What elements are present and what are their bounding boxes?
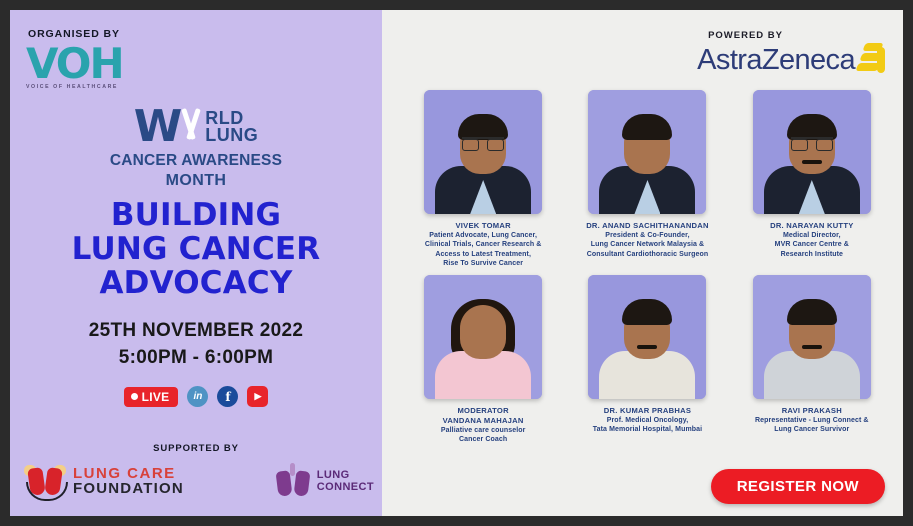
speaker-grid: VIVEK TOMAR Patient Advocate, Lung Cance… [410, 90, 885, 444]
event-date: 25TH NOVEMBER 2022 [10, 317, 382, 344]
speaker-role: Prof. Medical Oncology, Tata Memorial Ho… [578, 416, 716, 435]
speaker-name: RAVI PRAKASH [743, 406, 881, 416]
speaker-name: DR. KUMAR PRABHAS [578, 406, 716, 416]
speaker-role: Medical Director, MVR Cancer Centre & Re… [743, 231, 881, 259]
speaker-card: DR. KUMAR PRABHAS Prof. Medical Oncology… [574, 275, 720, 445]
speaker-role: President & Co-Founder, Lung Cancer Netw… [578, 231, 716, 259]
purple-lungs-icon [275, 462, 311, 500]
event-datetime: 25TH NOVEMBER 2022 5:00PM - 6:00PM [10, 317, 382, 371]
linkedin-icon[interactable]: in [187, 386, 208, 407]
speaker-name: DR. ANAND SACHITHANANDAN [578, 221, 716, 231]
lung-care-foundation-logo: LUNG CARE FOUNDATION [24, 460, 184, 502]
awareness-line3: MONTH [10, 172, 382, 190]
lungconnect-line1: LUNG [317, 469, 374, 482]
astrazeneca-wordmark: AstraZeneca [697, 44, 855, 77]
speaker-name: VIVEK TOMAR [414, 221, 552, 231]
speaker-card: MODERATOR VANDANA MAHAJAN Palliative car… [410, 275, 556, 445]
awareness-ribbon-icon [183, 106, 203, 148]
lung-connect-logo: LUNG CONNECT [275, 462, 374, 500]
speaker-name: MODERATOR VANDANA MAHAJAN [414, 406, 552, 426]
lcf-line1: LUNG CARE [73, 466, 184, 481]
sponsor-logos: LUNG CARE FOUNDATION LUNG CONNECT [24, 460, 374, 502]
astrazeneca-ribbon-icon [857, 43, 887, 77]
speaker-card: VIVEK TOMAR Patient Advocate, Lung Cance… [410, 90, 556, 269]
voh-logo: VOH VOICE OF HEALTHCARE [26, 42, 146, 90]
speaker-card: DR. ANAND SACHITHANANDAN President & Co-… [574, 90, 720, 269]
register-now-button[interactable]: REGISTER NOW [711, 469, 885, 504]
powered-by-label: POWERED BY [708, 30, 783, 41]
right-panel: POWERED BY AstraZeneca VIVEK TOMAR Patie… [382, 10, 903, 516]
awareness-line2: CANCER AWARENESS [10, 152, 382, 170]
speaker-photo [588, 275, 706, 399]
awareness-word-lung: LUNG [205, 127, 258, 144]
live-dot-icon [131, 393, 138, 400]
speaker-role: Palliative care counselor Cancer Coach [414, 426, 552, 445]
facebook-icon[interactable]: f [217, 386, 238, 407]
page-title: BUILDING LUNG CANCER ADVOCACY [10, 198, 382, 300]
voh-tagline: VOICE OF HEALTHCARE [26, 84, 146, 90]
world-lung-cancer-awareness-month-logo: W RLD LUNG CANCER AWARENESS MONTH [10, 106, 382, 190]
youtube-icon[interactable]: ▶ [247, 386, 268, 407]
live-label: LIVE [142, 390, 170, 404]
webinar-poster: ORGANISED BY VOH VOICE OF HEALTHCARE W R… [10, 10, 903, 516]
speaker-photo [424, 90, 542, 214]
lungconnect-line2: CONNECT [317, 481, 374, 494]
speaker-role: Representative - Lung Connect & Lung Can… [743, 416, 881, 435]
speaker-photo [753, 275, 871, 399]
speaker-card: RAVI PRAKASH Representative - Lung Conne… [739, 275, 885, 445]
voh-wordmark: VOH [26, 42, 146, 86]
speaker-name: DR. NARAYAN KUTTY [743, 221, 881, 231]
speaker-card: DR. NARAYAN KUTTY Medical Director, MVR … [739, 90, 885, 269]
social-row: LIVE in f ▶ [10, 386, 382, 407]
astrazeneca-logo: AstraZeneca [697, 43, 887, 77]
speaker-photo [753, 90, 871, 214]
lungs-with-arms-icon [24, 460, 66, 502]
live-badge: LIVE [124, 387, 179, 407]
speaker-photo [588, 90, 706, 214]
left-panel: ORGANISED BY VOH VOICE OF HEALTHCARE W R… [10, 10, 382, 516]
w-letter: W [134, 107, 182, 147]
event-time: 5:00PM - 6:00PM [10, 344, 382, 371]
lcf-line2: FOUNDATION [73, 481, 184, 496]
speaker-role: Patient Advocate, Lung Cancer, Clinical … [414, 231, 552, 269]
supported-by-label: SUPPORTED BY [10, 443, 382, 454]
speaker-photo [424, 275, 542, 399]
